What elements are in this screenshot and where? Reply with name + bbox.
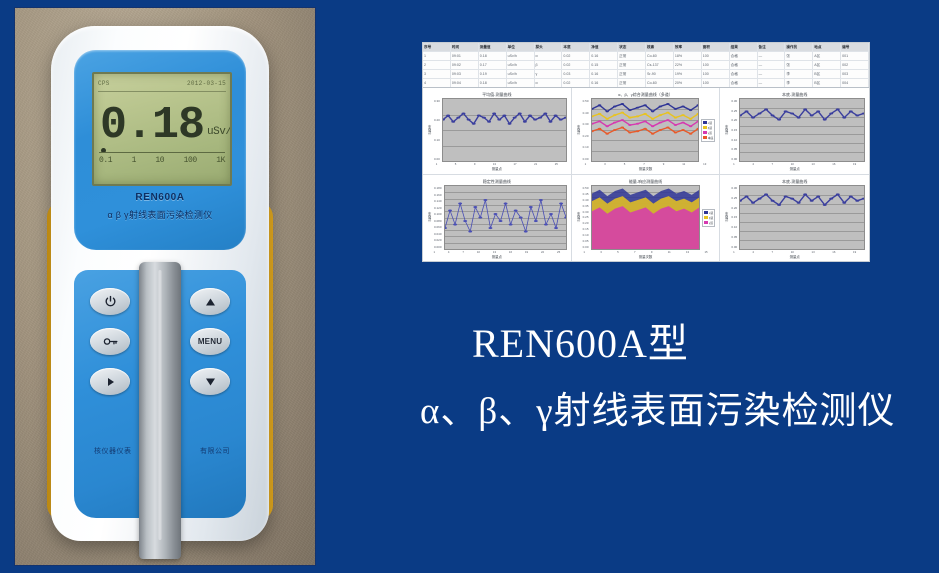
series-point: [797, 202, 801, 204]
sheet-cell: 003: [841, 70, 869, 78]
mini-chart-plot-area: [442, 98, 567, 162]
series-point: [643, 120, 646, 122]
legend-label: β道: [708, 126, 712, 130]
y-tick-label: 0.30: [434, 99, 440, 103]
series-point: [666, 103, 669, 105]
series-point: [528, 115, 532, 117]
sheet-cell: 合格: [730, 52, 758, 60]
series-point: [650, 133, 653, 135]
y-tick-label: 0.20: [434, 118, 440, 122]
mini-chart-series-layer: [592, 186, 699, 249]
legend-item: α道: [704, 211, 713, 215]
series-point: [784, 110, 788, 112]
series-point: [605, 133, 608, 135]
series-point: [507, 123, 511, 125]
sheet-cell: 100: [702, 70, 730, 78]
sheet-cell: 001: [841, 52, 869, 60]
mini-chart-legend: α道β道γ道: [702, 209, 715, 227]
sheet-cell: 李: [785, 79, 813, 87]
series-point: [478, 216, 482, 218]
series-point: [492, 112, 496, 114]
sheet-cell: A区: [813, 52, 841, 60]
sheet-cell: 20%: [674, 79, 702, 87]
series-point: [688, 109, 691, 111]
sheet-cell: 09:01: [451, 52, 479, 60]
mini-chart-y-ticks: 0.500.450.400.350.300.250.200.150.100.05…: [583, 185, 589, 250]
series-point: [777, 119, 781, 121]
mini-chart-body: 计数率0.300.200.100.00: [427, 98, 567, 162]
sheet-cell: —: [758, 61, 786, 69]
series-point: [445, 227, 447, 229]
series-point: [456, 117, 460, 119]
sheet-cell: 22%: [674, 61, 702, 69]
lcd-status-left: CPS: [98, 80, 110, 87]
sheet-cell: 正常: [618, 61, 646, 69]
series-point: [758, 198, 762, 200]
series-point: [473, 206, 477, 208]
start-key[interactable]: [90, 368, 130, 395]
lcd-value: 0.18: [100, 104, 204, 148]
series-point: [523, 230, 527, 232]
series-point: [810, 200, 814, 202]
series-point: [620, 127, 623, 129]
series-point: [597, 128, 600, 130]
mini-chart-plot-area: [444, 185, 567, 250]
series-point: [533, 119, 537, 121]
series-point: [856, 200, 860, 202]
lcd-scale-tick: 0.1: [99, 156, 112, 165]
y-tick-label: 0.00: [434, 157, 440, 161]
menu-key-label: MENU: [198, 337, 222, 346]
series-point: [628, 124, 631, 126]
series-point: [620, 103, 623, 105]
mini-chart-y-ticks: 0.300.200.100.00: [434, 98, 440, 162]
mini-chart-title: 稳定性测量曲线: [427, 178, 567, 185]
lcd-scale-tick: 1K: [216, 156, 225, 165]
legend-label: 本底: [708, 136, 714, 140]
series-point: [643, 128, 646, 130]
sheet-cell: Sr-90: [646, 70, 674, 78]
mini-chart-body: 计数率0.500.400.300.200.100.00α道β道γ道本底: [576, 98, 716, 162]
series-point: [448, 209, 452, 211]
sheet-cell: γ: [535, 70, 563, 78]
sheet-cell: 09:02: [451, 61, 479, 69]
mini-chart-series-layer: [445, 186, 566, 249]
series-point: [856, 115, 860, 117]
mini-chart-y-axis-label: 计数率: [724, 125, 729, 135]
legend-item: 本底: [703, 136, 714, 140]
series-point: [528, 206, 532, 208]
sheet-header-cell: 备注: [758, 43, 786, 51]
series-point: [605, 118, 608, 120]
lcd-scale-tick: 10: [155, 156, 164, 165]
sheet-cell: uSv/h: [507, 70, 535, 78]
y-tick-label: 0.20: [731, 118, 737, 122]
series-point: [803, 108, 807, 110]
series-point: [688, 133, 691, 135]
mini-chart-body: 计数率0.1800.1600.1400.1200.1000.0800.0600.…: [427, 185, 567, 250]
series-point: [482, 117, 486, 119]
series-point: [823, 119, 827, 121]
sheet-cell: —: [758, 70, 786, 78]
sheet-cell: β: [535, 61, 563, 69]
series-point: [513, 117, 517, 119]
sheet-cell: α: [535, 52, 563, 60]
slide-canvas: CPS 2012-03-15 0.18 uSv/h 0.1 1 10 1: [0, 0, 939, 573]
mini-chart-y-axis-label: 计数率: [576, 125, 581, 135]
series-point: [666, 119, 669, 121]
series-point: [810, 115, 814, 117]
sheet-cell: 3: [423, 70, 451, 78]
legend-swatch: [703, 136, 707, 139]
y-tick-label: 0.160: [434, 193, 442, 197]
series-point: [458, 202, 462, 204]
legend-item: β道: [703, 126, 714, 130]
y-tick-label: 0.05: [731, 235, 737, 239]
legend-swatch: [703, 121, 707, 124]
product-subtitle: α、β、γ射线表面污染检测仪: [420, 382, 939, 442]
sheet-cell: 0.16: [590, 79, 618, 87]
device-upper-faceplate: CPS 2012-03-15 0.18 uSv/h 0.1 1 10 1: [74, 50, 246, 250]
sheet-cell: A区: [813, 61, 841, 69]
mini-chart-y-axis-label: 计数率: [427, 212, 432, 222]
sheet-cell: 张: [785, 61, 813, 69]
series-point: [836, 193, 840, 195]
series-point: [784, 195, 788, 197]
y-tick-label: 0.100: [434, 212, 442, 216]
series-point: [497, 119, 501, 121]
sheet-cell: 18%: [674, 52, 702, 60]
sheet-cell: —: [758, 52, 786, 60]
series-point: [658, 122, 661, 124]
series-point: [498, 220, 502, 222]
sheet-cell: —: [758, 79, 786, 87]
sheet-cell: 0.03: [562, 70, 590, 78]
series-point: [446, 115, 450, 117]
sheet-cell: B区: [813, 79, 841, 87]
series-point: [790, 112, 794, 114]
mini-chart-y-axis-label: 计数率: [724, 212, 729, 222]
series-point: [628, 117, 631, 119]
down-key[interactable]: [190, 368, 230, 395]
y-tick-label: 0.140: [434, 199, 442, 203]
series-point: [553, 115, 557, 117]
series-point: [849, 110, 853, 112]
series-point: [673, 117, 676, 119]
sheet-cell: 004: [841, 79, 869, 87]
series-point: [635, 115, 638, 117]
y-tick-label: 0.20: [583, 134, 589, 138]
sheet-cell: α: [535, 79, 563, 87]
series-point: [628, 109, 631, 111]
y-tick-label: 0.25: [731, 196, 737, 200]
y-tick-label: 0.000: [434, 245, 442, 249]
series-point: [513, 209, 517, 211]
series-point: [554, 227, 558, 229]
series-point: [758, 112, 762, 114]
mini-chart-series-layer: [740, 186, 864, 249]
sheet-cell: 正常: [618, 70, 646, 78]
series-point: [658, 129, 661, 131]
series-point: [751, 202, 755, 204]
series-point: [666, 112, 669, 114]
series-point: [613, 105, 616, 107]
mini-chart-plot-area: [591, 98, 699, 162]
legend-swatch: [704, 221, 708, 224]
series-point: [461, 112, 465, 114]
lcd-scale-tick: 1: [132, 156, 136, 165]
sheet-cell: 100: [702, 79, 730, 87]
sheet-header-cell: 结果: [730, 43, 758, 51]
series-point: [816, 195, 820, 197]
legend-item: γ道: [703, 131, 714, 135]
series-point: [829, 198, 833, 200]
sheet-cell: 0.16: [590, 70, 618, 78]
series-point: [797, 117, 801, 119]
series-point: [790, 198, 794, 200]
y-tick-label: 0.120: [434, 206, 442, 210]
y-tick-label: 0.00: [583, 157, 589, 161]
mini-chart-y-ticks: 0.1800.1600.1400.1200.1000.0800.0600.040…: [434, 185, 442, 250]
sheet-header-cell: 核素: [646, 43, 674, 51]
y-tick-label: 0.45: [583, 192, 589, 196]
device-description-label: α β γ射线表面污染检测仪: [74, 208, 246, 221]
series-point: [472, 123, 476, 125]
sheet-cell: 0.16: [590, 52, 618, 60]
sheet-cell: 张: [785, 52, 813, 60]
series-point: [613, 129, 616, 131]
legend-label: α道: [709, 211, 713, 215]
mini-chart-y-ticks: 0.500.400.300.200.100.00: [583, 98, 589, 162]
sheet-header-cell: 编号: [841, 43, 869, 51]
series-point: [650, 118, 653, 120]
sheet-header-cell: 探头: [535, 43, 563, 51]
y-tick-label: 0.060: [434, 225, 442, 229]
sheet-cell: 09:03: [451, 70, 479, 78]
mini-chart-body: 计数率0.300.250.200.150.100.050.00: [724, 185, 865, 250]
series-point: [816, 110, 820, 112]
sheet-cell: 0.15: [590, 61, 618, 69]
sheet-row: 409:040.18uSv/hα0.020.16正常Co-6020%100合格—…: [423, 79, 869, 87]
y-tick-label: 0.15: [731, 128, 737, 132]
mini-chart-y-ticks: 0.300.250.200.150.100.050.00: [731, 185, 737, 250]
sheet-cell: 100: [702, 61, 730, 69]
series-point: [764, 108, 768, 110]
headline-block: REN600A型 α、β、γ射线表面污染检测仪: [420, 318, 939, 442]
mini-chart-body: 计数率0.500.450.400.350.300.250.200.150.100…: [576, 185, 716, 250]
sheet-cell: 合格: [730, 79, 758, 87]
series-point: [751, 117, 755, 119]
series-point: [503, 202, 507, 204]
y-tick-label: 0.20: [731, 206, 737, 210]
series-point: [538, 199, 542, 201]
mini-chart-title: 本底-测量曲线: [724, 91, 865, 98]
mini-chart-plot-area: [739, 185, 865, 250]
mini-chart: α、β、γ综合测量曲线（多道）计数率0.500.400.300.200.100.…: [572, 88, 721, 175]
mini-chart-body: 计数率0.300.250.200.150.100.050.00: [724, 98, 865, 162]
legend-swatch: [704, 211, 708, 214]
series-point: [538, 117, 542, 119]
series-point: [597, 113, 600, 115]
sheet-header-cell: 效率: [674, 43, 702, 51]
sheet-cell: 2: [423, 61, 451, 69]
sheet-row: 209:020.17uSv/hβ0.020.15正常Cs-13722%100合格…: [423, 61, 869, 70]
sheet-cell: 100: [702, 52, 730, 60]
mini-chart-title: 本底-测量曲线: [724, 178, 865, 185]
sheet-header-cell: 操作员: [785, 43, 813, 51]
mini-chart-x-axis-label: 测量点: [427, 254, 567, 259]
series-point: [803, 193, 807, 195]
series-point: [836, 108, 840, 110]
y-tick-label: 0.30: [583, 122, 589, 126]
series-point: [597, 104, 600, 106]
series-point: [533, 220, 537, 222]
series-point: [502, 115, 506, 117]
sheet-header-cell: 测量值: [479, 43, 507, 51]
series-point: [842, 202, 846, 204]
series-point: [548, 121, 552, 123]
lcd-divider: [98, 91, 226, 92]
series-point: [745, 195, 749, 197]
power-key[interactable]: [90, 288, 130, 315]
y-tick-label: 0.10: [434, 138, 440, 142]
sheet-cell: 0.02: [562, 52, 590, 60]
sheet-cell: 0.19: [479, 70, 507, 78]
series-point: [673, 131, 676, 133]
up-key[interactable]: [190, 288, 230, 315]
lcd-reading: 0.18 uSv/h: [100, 94, 226, 148]
series-point: [643, 104, 646, 106]
series-point: [466, 119, 470, 121]
series-point: [613, 114, 616, 116]
handle-highlight: [159, 270, 162, 540]
product-model-title: REN600A型: [420, 318, 939, 370]
series-point: [635, 130, 638, 132]
mini-chart-y-axis-label: 计数率: [576, 212, 581, 222]
series-point: [688, 118, 691, 120]
series-point: [518, 216, 522, 218]
legend-swatch: [703, 126, 707, 129]
series-point: [605, 125, 608, 127]
mini-chart-plot-area: [739, 98, 865, 162]
chart-grid: 平均值-测量曲线计数率0.300.200.100.0015913172125测量…: [423, 88, 869, 262]
series-point: [764, 193, 768, 195]
mini-chart-x-axis-label: 测量次数: [576, 254, 716, 259]
sheet-cell: uSv/h: [507, 61, 535, 69]
series-point: [488, 227, 492, 229]
mini-chart-series-layer: [443, 99, 566, 161]
mini-chart: 本底-测量曲线计数率0.300.250.200.150.100.050.0014…: [720, 88, 869, 175]
y-tick-label: 0.25: [583, 215, 589, 219]
series-point: [493, 213, 497, 215]
backlight-key[interactable]: [90, 328, 130, 355]
y-tick-label: 0.00: [583, 245, 589, 249]
series-point: [508, 223, 512, 225]
y-tick-label: 0.25: [731, 109, 737, 113]
series-point: [681, 114, 684, 116]
series-point: [559, 202, 563, 204]
series-point: [559, 119, 563, 121]
series-point: [487, 121, 491, 123]
series-point: [451, 121, 455, 123]
series-point: [771, 200, 775, 202]
mini-chart-legend: α道β道γ道本底: [701, 119, 716, 142]
series-point: [477, 115, 481, 117]
lcd-bargraph-axis: [99, 152, 225, 153]
sheet-cell: 0.18: [479, 79, 507, 87]
y-tick-label: 0.15: [731, 215, 737, 219]
series-point: [635, 123, 638, 125]
sheet-cell: uSv/h: [507, 52, 535, 60]
sheet-cell: B区: [813, 70, 841, 78]
series-point: [628, 131, 631, 133]
product-photo: CPS 2012-03-15 0.18 uSv/h 0.1 1 10 1: [15, 8, 315, 565]
sheet-header-row: 序号时间测量值单位探头本底净值状态核素效率面积结果备注操作员地点编号: [423, 43, 869, 52]
series-point: [597, 120, 600, 122]
sheet-cell: 正常: [618, 79, 646, 87]
sheet-header-cell: 面积: [702, 43, 730, 51]
mini-chart-x-axis-label: 测量点: [724, 166, 865, 171]
y-tick-label: 0.180: [434, 186, 442, 190]
sheet-row: 309:030.19uSv/hγ0.030.16正常Sr-9019%100合格—…: [423, 70, 869, 79]
series-point: [620, 112, 623, 114]
radiation-detector-device: CPS 2012-03-15 0.18 uSv/h 0.1 1 10 1: [51, 26, 269, 541]
mini-chart: 平均值-测量曲线计数率0.300.200.100.0015913172125测量…: [423, 88, 572, 175]
chevron-up-icon: [204, 296, 217, 308]
menu-key[interactable]: MENU: [190, 328, 230, 355]
y-tick-label: 0.40: [583, 198, 589, 202]
series-point: [620, 119, 623, 121]
sheet-cell: 李: [785, 70, 813, 78]
mini-chart: 能量-响应测量曲线计数率0.500.450.400.350.300.250.20…: [572, 175, 721, 262]
y-tick-label: 0.020: [434, 238, 442, 242]
y-tick-label: 0.00: [731, 245, 737, 249]
series-point: [673, 108, 676, 110]
sheet-cell: 0.02: [562, 79, 590, 87]
y-tick-label: 0.15: [583, 227, 589, 231]
series-point: [842, 117, 846, 119]
mini-chart-series-layer: [592, 99, 698, 161]
lcd-unit: uSv/h: [207, 126, 232, 138]
legend-swatch: [704, 216, 708, 219]
sheet-header-cell: 状态: [618, 43, 646, 51]
y-tick-label: 0.10: [731, 225, 737, 229]
y-tick-label: 0.040: [434, 232, 442, 236]
series-point: [681, 122, 684, 124]
mini-chart-title: α、β、γ综合测量曲线（多道）: [576, 91, 716, 98]
y-tick-label: 0.10: [583, 145, 589, 149]
series-point: [564, 216, 566, 218]
series-point: [658, 105, 661, 107]
sheet-cell: Co-60: [646, 52, 674, 60]
lcd-status-bar: CPS 2012-03-15: [98, 77, 226, 90]
device-model-label: REN600A: [74, 192, 246, 203]
sheet-cell: 正常: [618, 52, 646, 60]
y-tick-label: 0.10: [583, 233, 589, 237]
sheet-cell: Cs-137: [646, 61, 674, 69]
lcd-scale-tick: 100: [184, 156, 197, 165]
mini-chart-y-axis-label: 计数率: [427, 125, 432, 135]
series-point: [658, 114, 661, 116]
sheet-cell: 19%: [674, 70, 702, 78]
sheet-row: 109:010.18uSv/hα0.020.16正常Co-6018%100合格—…: [423, 52, 869, 61]
series-point: [829, 112, 833, 114]
series-point: [483, 199, 487, 201]
series-point: [605, 110, 608, 112]
y-tick-label: 0.30: [583, 210, 589, 214]
y-tick-label: 0.20: [583, 221, 589, 225]
series-point: [613, 122, 616, 124]
